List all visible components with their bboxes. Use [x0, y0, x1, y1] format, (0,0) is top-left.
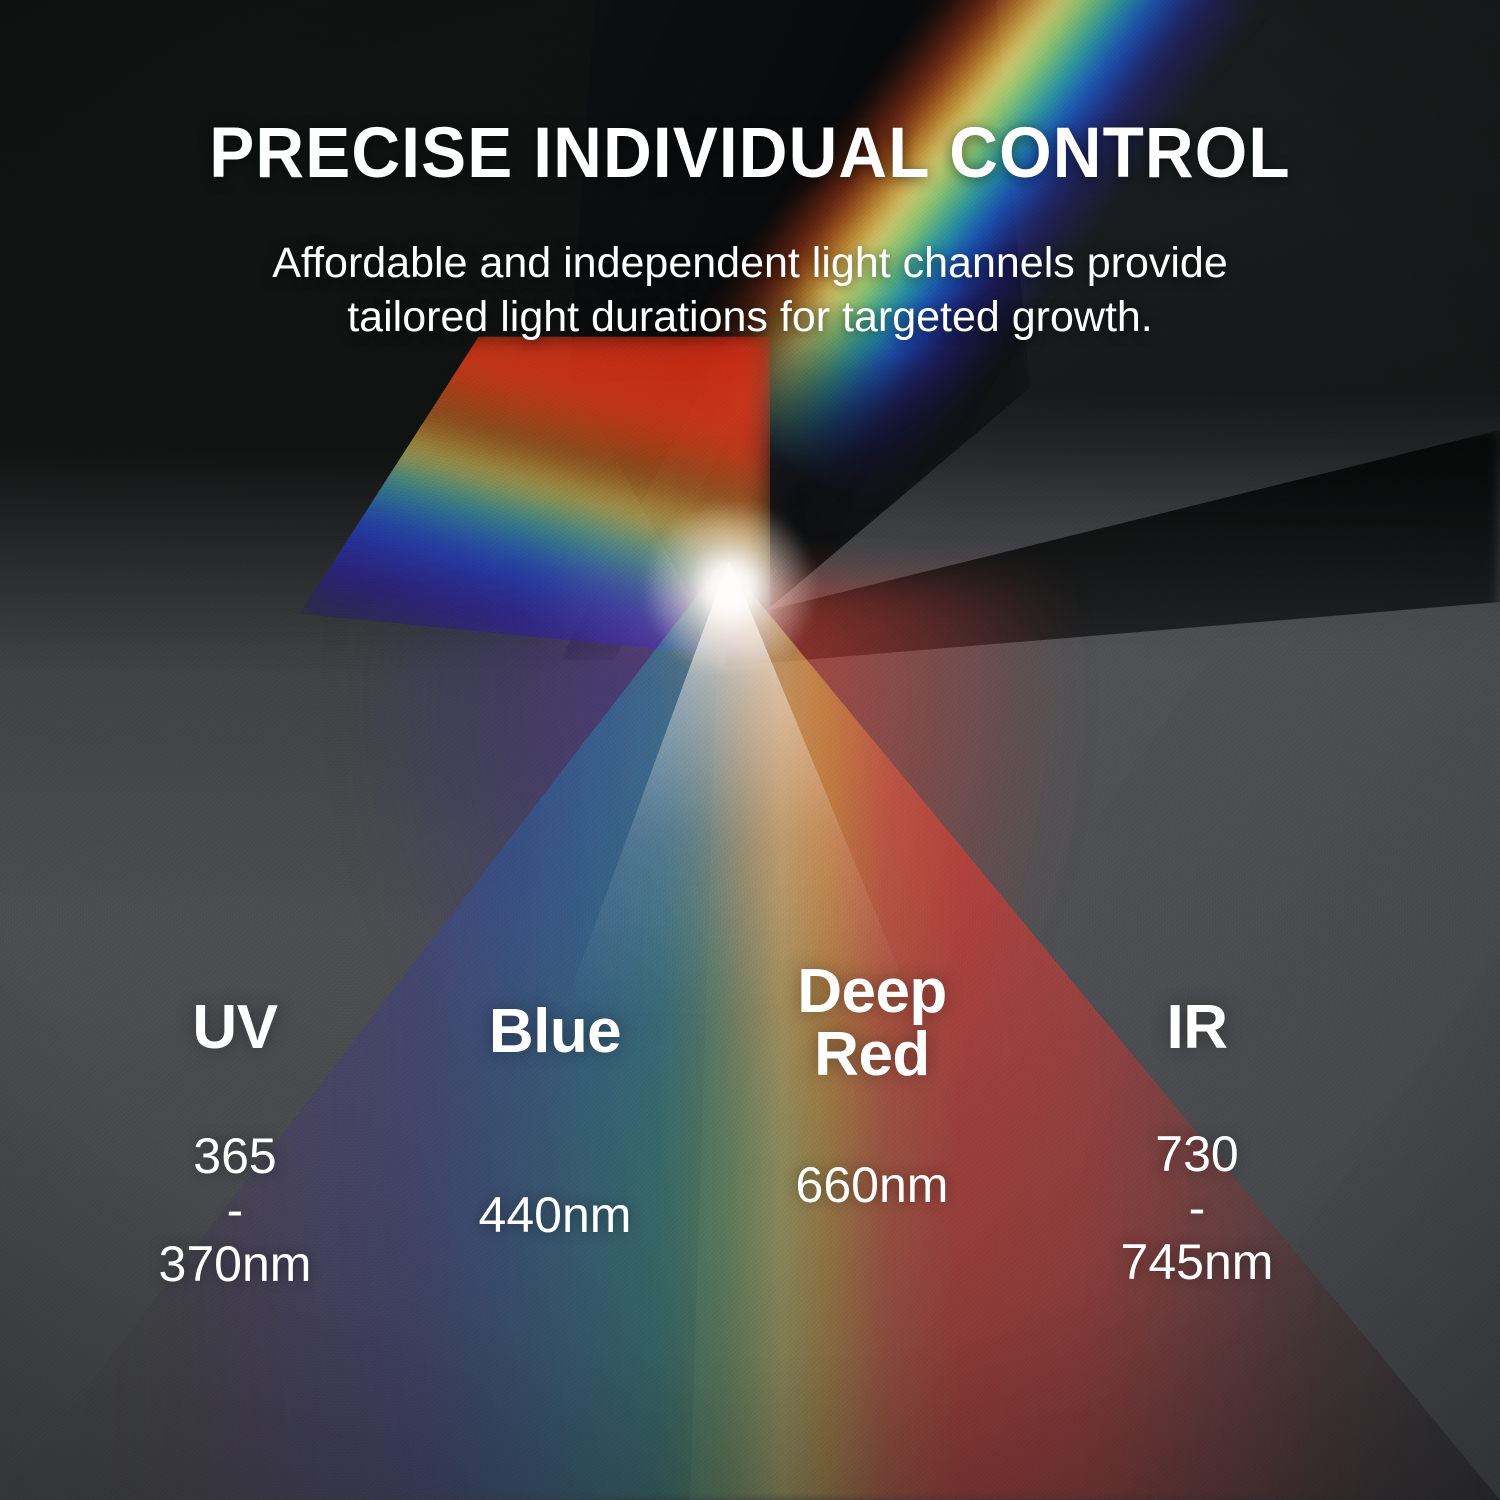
- channel-ir-wavelength-line-2: 745nm: [1047, 1235, 1347, 1289]
- channel-blue-wavelength: 440nm: [405, 1188, 705, 1242]
- channel-ir-wavelength-line-1: 730: [1047, 1127, 1347, 1181]
- channel-uv-wavelength: 365 - 370nm: [85, 1129, 385, 1291]
- page-title: PRECISE INDIVIDUAL CONTROL: [38, 118, 1463, 189]
- subtitle-line-1: Affordable and independent light channel…: [135, 236, 1365, 290]
- channel-deep-red-name-line-2: Red: [722, 1023, 1022, 1086]
- channel-uv-wavelength-line-1: 365: [85, 1129, 385, 1183]
- channel-blue: Blue 440nm: [405, 1000, 705, 1242]
- channel-deep-red-name: Deep Red: [722, 960, 1022, 1086]
- channel-deep-red: Deep Red 660nm: [722, 960, 1022, 1212]
- channel-deep-red-name-line-1: Deep: [722, 960, 1022, 1023]
- channel-uv-wavelength-line-2: 370nm: [85, 1237, 385, 1291]
- light-hotspot: [645, 500, 815, 670]
- channel-uv-name: UV: [85, 996, 385, 1059]
- channel-uv: UV 365 - 370nm: [85, 996, 385, 1291]
- channel-ir: IR 730 - 745nm: [1047, 996, 1347, 1289]
- channel-ir-name: IR: [1047, 996, 1347, 1059]
- subtitle-line-2: tailored light durations for targeted gr…: [135, 290, 1365, 344]
- page-subtitle: Affordable and independent light channel…: [135, 236, 1365, 344]
- channel-deep-red-wavelength: 660nm: [722, 1158, 1022, 1212]
- channel-ir-wavelength-dash: -: [1047, 1181, 1347, 1235]
- channel-ir-wavelength: 730 - 745nm: [1047, 1127, 1347, 1289]
- channel-uv-wavelength-dash: -: [85, 1183, 385, 1237]
- channel-blue-name: Blue: [405, 1000, 705, 1063]
- promo-graphic: PRECISE INDIVIDUAL CONTROL Affordable an…: [0, 0, 1500, 1500]
